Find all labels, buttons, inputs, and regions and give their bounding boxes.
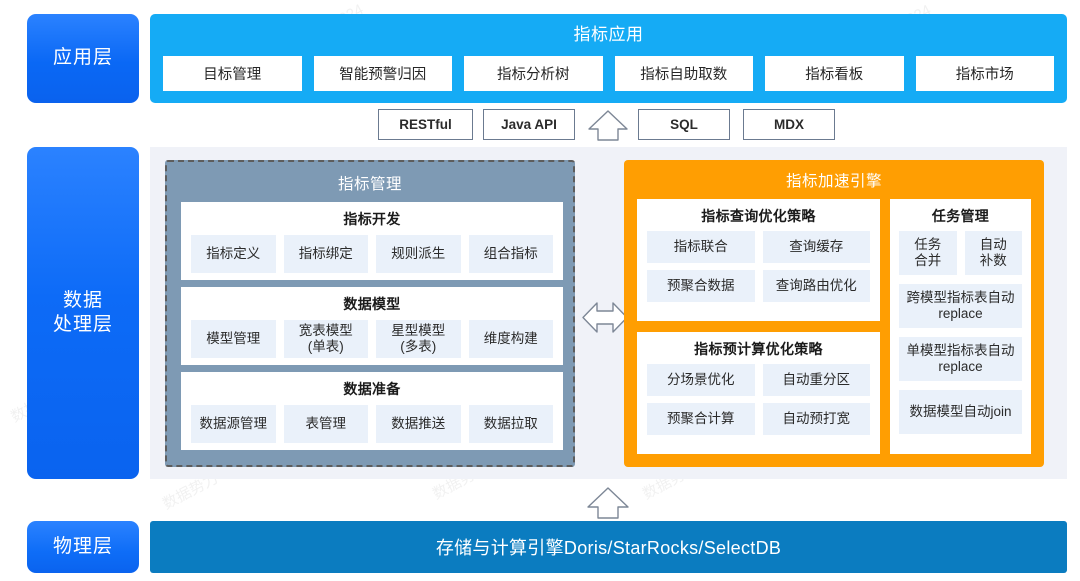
query-optimization-title: 指标查询优化策略 [637,199,880,226]
layer-badge-application-label: 应用层 [53,46,113,70]
chip-wide-table-model[interactable]: 宽表模型 (单表) [284,320,369,358]
acceleration-engine-title: 指标加速引擎 [624,169,1044,191]
task-management-chip-stack: 任务 合并 自动 补数 跨模型指标表自动 replace 单模型指标表自动 re… [890,226,1031,434]
layer-badge-physical-label: 物理层 [53,535,113,559]
app-chip-self-service-query[interactable]: 指标自助取数 [615,56,754,91]
application-layer-title: 指标应用 [150,20,1067,45]
physical-layer-label: 存储与计算引擎Doris/StarRocks/SelectDB [436,534,781,560]
application-layer-band: 指标应用 目标管理 智能预警归因 指标分析树 指标自助取数 指标看板 指标市场 [150,14,1067,103]
chip-model-management[interactable]: 模型管理 [191,320,276,358]
app-chip-smart-alert-attribution[interactable]: 智能预警归因 [314,56,453,91]
metric-development-card: 指标开发 指标定义 指标绑定 规则派生 组合指标 [181,202,563,280]
application-chip-row: 目标管理 智能预警归因 指标分析树 指标自助取数 指标看板 指标市场 [163,56,1054,91]
layer-badge-data-processing-label: 数据 处理层 [53,289,113,338]
task-management-title: 任务管理 [890,199,1031,226]
chip-query-cache[interactable]: 查询缓存 [763,231,871,263]
data-preparation-chip-row: 数据源管理 表管理 数据推送 数据拉取 [181,399,563,443]
task-management-card: 任务管理 任务 合并 自动 补数 跨模型指标表自动 replace 单模型指标表… [890,199,1031,454]
metric-management-panel: 指标管理 指标开发 指标定义 指标绑定 规则派生 组合指标 数据模型 模型管理 … [165,160,575,467]
layer-badge-application: 应用层 [27,14,139,103]
chip-single-model-auto-replace[interactable]: 单模型指标表自动 replace [899,337,1022,381]
app-chip-metric-market[interactable]: 指标市场 [916,56,1055,91]
chip-metric-binding[interactable]: 指标绑定 [284,235,369,273]
chip-datasource-management[interactable]: 数据源管理 [191,405,276,443]
query-optimization-row-2: 预聚合数据 查询路由优化 [647,270,870,302]
precompute-optimization-row-2: 预聚合计算 自动预打宽 [647,403,870,435]
data-model-card: 数据模型 模型管理 宽表模型 (单表) 星型模型 (多表) 维度构建 [181,287,563,365]
chip-star-schema-model[interactable]: 星型模型 (多表) [376,320,461,358]
physical-layer-band: 存储与计算引擎Doris/StarRocks/SelectDB [150,521,1067,573]
chip-composite-metric[interactable]: 组合指标 [469,235,554,273]
api-chip-sql[interactable]: SQL [638,109,730,140]
chip-data-pull[interactable]: 数据拉取 [469,405,554,443]
chip-auto-backfill[interactable]: 自动 补数 [965,231,1023,275]
chip-auto-prewiden[interactable]: 自动预打宽 [763,403,871,435]
chip-metric-definition[interactable]: 指标定义 [191,235,276,273]
acceleration-engine-panel: 指标加速引擎 指标查询优化策略 指标联合 查询缓存 预聚合数据 查询路由优化 指… [624,160,1044,467]
chip-table-management[interactable]: 表管理 [284,405,369,443]
data-model-chip-row: 模型管理 宽表模型 (单表) 星型模型 (多表) 维度构建 [181,314,563,358]
metric-development-chip-row: 指标定义 指标绑定 规则派生 组合指标 [181,229,563,273]
chip-rule-derivation[interactable]: 规则派生 [376,235,461,273]
api-interface-row: RESTful Java API SQL MDX [150,109,1067,144]
precompute-optimization-title: 指标预计算优化策略 [637,332,880,359]
chip-preaggregate-compute[interactable]: 预聚合计算 [647,403,755,435]
arrow-up-icon-bottom [586,486,630,520]
task-management-top-row: 任务 合并 自动 补数 [899,231,1022,275]
data-preparation-card: 数据准备 数据源管理 表管理 数据推送 数据拉取 [181,372,563,450]
chip-auto-repartition[interactable]: 自动重分区 [763,364,871,396]
chip-query-route-optimization[interactable]: 查询路由优化 [763,270,871,302]
chip-metric-union[interactable]: 指标联合 [647,231,755,263]
chip-preaggregated-data[interactable]: 预聚合数据 [647,270,755,302]
api-chip-java-api[interactable]: Java API [483,109,575,140]
chip-task-merge[interactable]: 任务 合并 [899,231,957,275]
query-optimization-card: 指标查询优化策略 指标联合 查询缓存 预聚合数据 查询路由优化 [637,199,880,321]
chip-scenario-optimization[interactable]: 分场景优化 [647,364,755,396]
metric-development-title: 指标开发 [181,202,563,229]
precompute-optimization-card: 指标预计算优化策略 分场景优化 自动重分区 预聚合计算 自动预打宽 [637,332,880,454]
precompute-optimization-row-1: 分场景优化 自动重分区 [647,364,870,396]
query-optimization-chip-grid: 指标联合 查询缓存 预聚合数据 查询路由优化 [637,226,880,302]
app-chip-metric-dashboard[interactable]: 指标看板 [765,56,904,91]
double-arrow-horizontal-icon [580,290,630,345]
layer-badge-physical: 物理层 [27,521,139,573]
app-chip-target-management[interactable]: 目标管理 [163,56,302,91]
precompute-optimization-chip-grid: 分场景优化 自动重分区 预聚合计算 自动预打宽 [637,359,880,435]
api-chip-restful[interactable]: RESTful [378,109,473,140]
data-model-title: 数据模型 [181,287,563,314]
metric-management-title: 指标管理 [167,172,573,194]
arrow-up-icon [587,109,629,142]
architecture-diagram: 上阅读版 2024 版 2024 数据势力 数据势力 数据势力 数据 应用层 数… [0,0,1080,581]
query-optimization-row-1: 指标联合 查询缓存 [647,231,870,263]
chip-cross-model-auto-replace[interactable]: 跨模型指标表自动 replace [899,284,1022,328]
layer-badge-data-processing: 数据 处理层 [27,147,139,479]
app-chip-metric-analysis-tree[interactable]: 指标分析树 [464,56,603,91]
chip-dimension-build[interactable]: 维度构建 [469,320,554,358]
chip-data-model-auto-join[interactable]: 数据模型自动join [899,390,1022,434]
api-chip-mdx[interactable]: MDX [743,109,835,140]
chip-data-push[interactable]: 数据推送 [376,405,461,443]
data-preparation-title: 数据准备 [181,372,563,399]
